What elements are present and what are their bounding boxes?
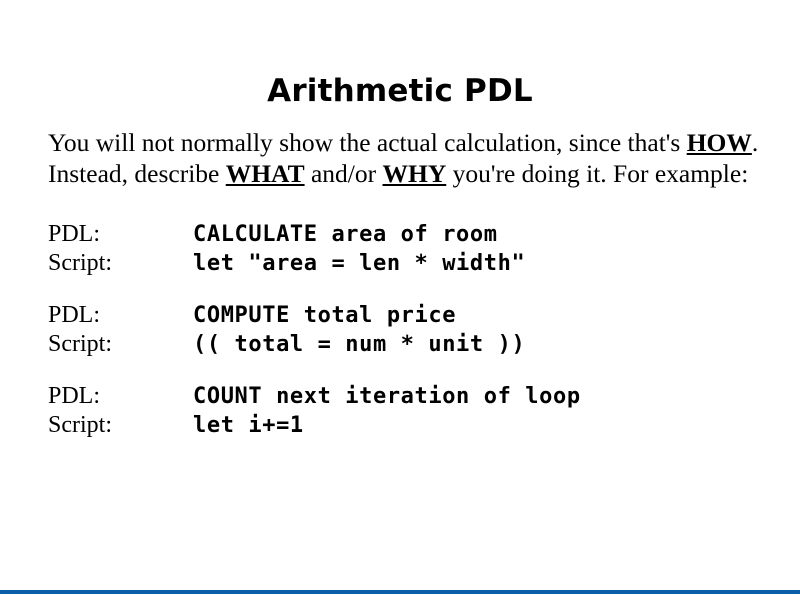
row-code-script: let "area = len * width" (193, 249, 525, 278)
row-label-pdl: PDL: (48, 220, 193, 249)
example-row-script: Script: (( total = num * unit )) (48, 330, 768, 359)
row-label-script: Script: (48, 249, 193, 278)
slide: Arithmetic PDL You will not normally sho… (0, 0, 800, 600)
emphasis-what: WHAT (226, 159, 305, 188)
example-block: PDL: COMPUTE total price Script: (( tota… (48, 301, 768, 359)
row-label-script: Script: (48, 411, 193, 440)
emphasis-why: WHY (383, 159, 447, 188)
example-block: PDL: COUNT next iteration of loop Script… (48, 382, 768, 440)
row-label-script: Script: (48, 330, 193, 359)
intro-paragraph: You will not normally show the actual ca… (48, 127, 760, 189)
emphasis-how: HOW (687, 128, 752, 157)
row-code-script: let i+=1 (193, 411, 304, 440)
example-block: PDL: CALCULATE area of room Script: let … (48, 220, 768, 278)
intro-text-part-3: and/or (305, 159, 383, 188)
bottom-accent-rule (0, 590, 800, 594)
intro-text-part-4: you're doing it. For example: (446, 159, 748, 188)
example-row-pdl: PDL: COUNT next iteration of loop (48, 382, 768, 411)
row-code-pdl: COUNT next iteration of loop (193, 382, 581, 411)
example-row-pdl: PDL: COMPUTE total price (48, 301, 768, 330)
example-row-pdl: PDL: CALCULATE area of room (48, 220, 768, 249)
row-code-pdl: CALCULATE area of room (193, 220, 498, 249)
page-title: Arithmetic PDL (0, 73, 800, 109)
row-code-pdl: COMPUTE total price (193, 301, 456, 330)
row-label-pdl: PDL: (48, 382, 193, 411)
example-row-script: Script: let i+=1 (48, 411, 768, 440)
row-code-script: (( total = num * unit )) (193, 330, 525, 359)
example-row-script: Script: let "area = len * width" (48, 249, 768, 278)
row-label-pdl: PDL: (48, 301, 193, 330)
intro-text-part-1: You will not normally show the actual ca… (48, 128, 687, 157)
example-list: PDL: CALCULATE area of room Script: let … (48, 220, 768, 463)
